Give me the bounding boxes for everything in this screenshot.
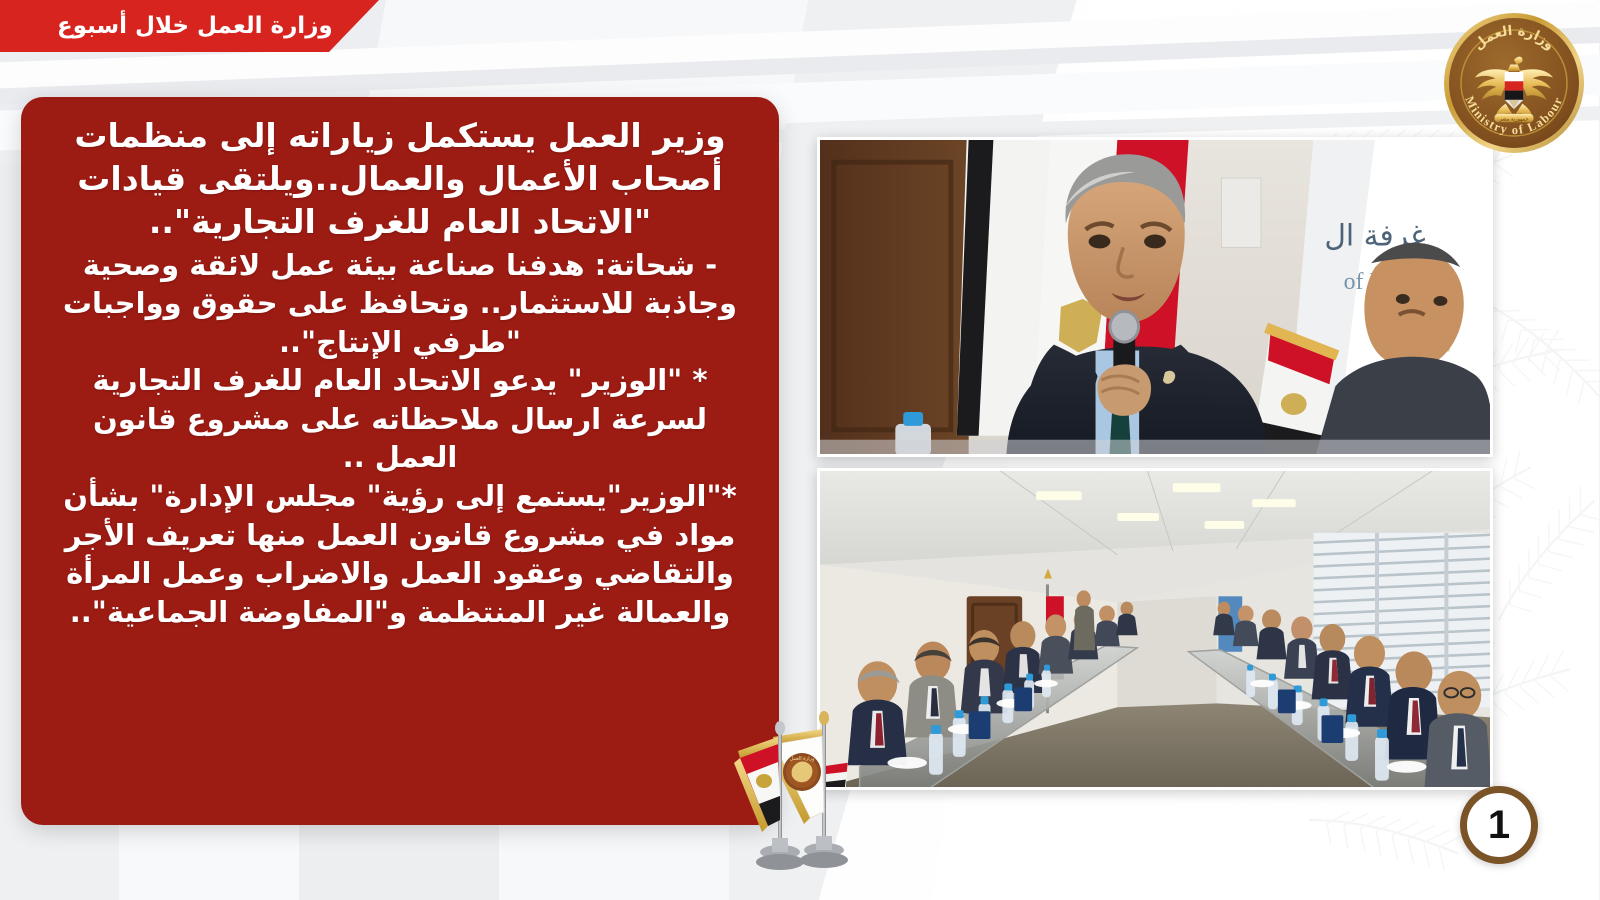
svg-text:وزارة العمل: وزارة العمل (791, 756, 816, 762)
header-ribbon: وزارة العمل خلال أسبوع (0, 0, 380, 52)
header-ribbon-title: وزارة العمل خلال أسبوع (0, 13, 334, 39)
news-text-card: وزير العمل يستكمل زياراته إلى منظمات أصح… (22, 97, 780, 825)
slide-canvas: وزارة العمل خلال أسبوع (0, 0, 1600, 900)
news-body-text: - شحاتة: هدفنا صناعة بيئة عمل لائقة وصحي… (48, 246, 754, 632)
news-headline: وزير العمل يستكمل زياراته إلى منظمات أصح… (48, 115, 754, 244)
svg-text:جمهورية مصر: جمهورية مصر (1499, 116, 1529, 122)
desk-flags-decoration: وزارة العمل (735, 700, 875, 878)
minister-speaking-photo: غرفة ال of Egypt FFE (818, 137, 1494, 457)
page-number: 1 (1489, 805, 1511, 845)
ministry-of-labour-logo-icon: جمهورية مصر وزارة العمل Ministry of Labo… (1442, 10, 1588, 156)
meeting-room-photo (818, 468, 1494, 790)
page-number-badge: 1 (1461, 786, 1539, 864)
